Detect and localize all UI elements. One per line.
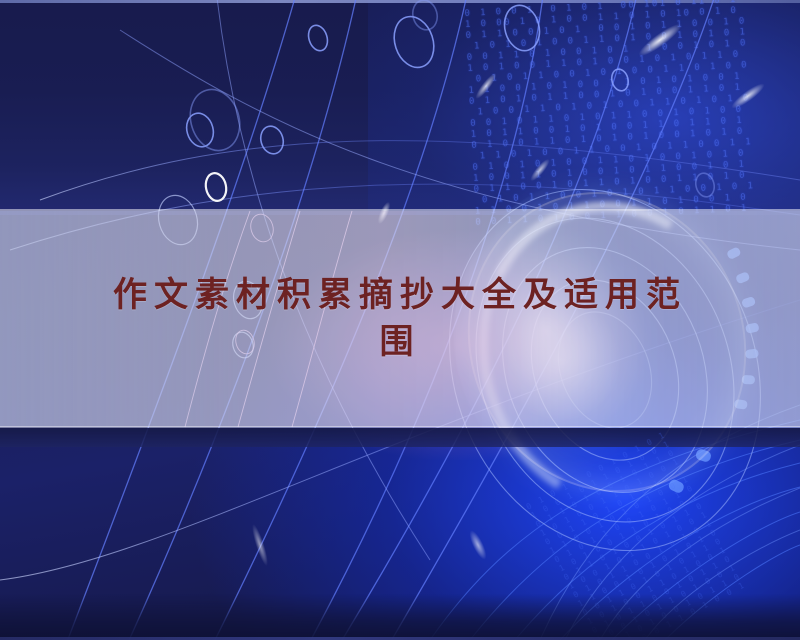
title-line-1: 作文素材积累摘抄大全及适用范 bbox=[0, 272, 800, 319]
caption-band-top-rule bbox=[0, 209, 800, 211]
title-line-2: 围 bbox=[0, 319, 800, 366]
slide-canvas: 0 1 0 0 1 0 1 0 1 00 101 0 11 0 1 1 0 00… bbox=[0, 0, 800, 640]
slide-title: 作文素材积累摘抄大全及适用范 围 bbox=[0, 272, 800, 366]
